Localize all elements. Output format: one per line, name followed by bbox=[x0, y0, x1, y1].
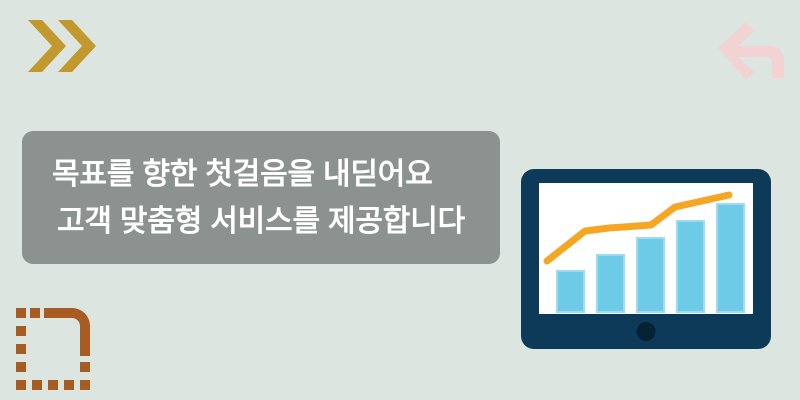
headline-line-1: 목표를 향한 첫걸음을 내딛어요 bbox=[52, 151, 474, 198]
tablet-illustration bbox=[521, 169, 771, 349]
promo-banner: 목표를 향한 첫걸음을 내딛어요 고객 맞춤형 서비스를 제공합니다 bbox=[0, 0, 800, 400]
double-chevron-right-icon bbox=[26, 18, 96, 74]
tablet-screen bbox=[539, 183, 753, 314]
tablet-home-button[interactable] bbox=[637, 322, 656, 341]
growth-bar-chart bbox=[539, 183, 753, 314]
return-arrow-icon bbox=[706, 20, 790, 80]
headline-panel: 목표를 향한 첫걸음을 내딛어요 고객 맞춤형 서비스를 제공합니다 bbox=[22, 131, 500, 264]
headline-line-2: 고객 맞춤형 서비스를 제공합니다 bbox=[52, 198, 474, 245]
dashed-square-bracket-icon bbox=[16, 300, 98, 394]
chart-bars bbox=[557, 204, 744, 312]
